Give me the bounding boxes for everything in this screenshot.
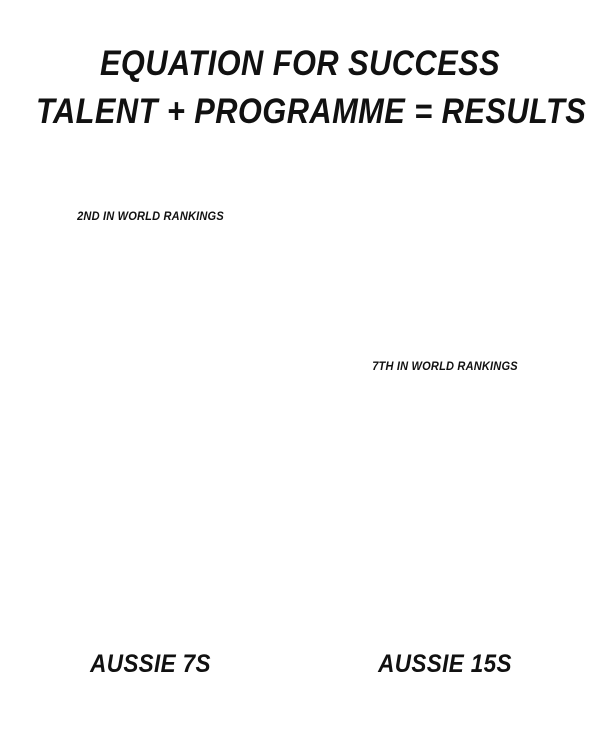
- bar-caption-aussie-15s: AUSSIE 15S: [364, 650, 526, 679]
- stacked-bar-chart: 2ND IN WORLD RANKINGS PROGRAMME TALENT A…: [0, 0, 600, 750]
- infographic-canvas: EQUATION FOR SUCCESS TALENT + PROGRAMME …: [0, 0, 600, 750]
- rank-label-aussie-7s: 2ND IN WORLD RANKINGS: [67, 209, 234, 223]
- rank-label-aussie-15s: 7TH IN WORLD RANKINGS: [362, 359, 528, 373]
- bar-caption-aussie-7s: AUSSIE 7S: [69, 650, 232, 679]
